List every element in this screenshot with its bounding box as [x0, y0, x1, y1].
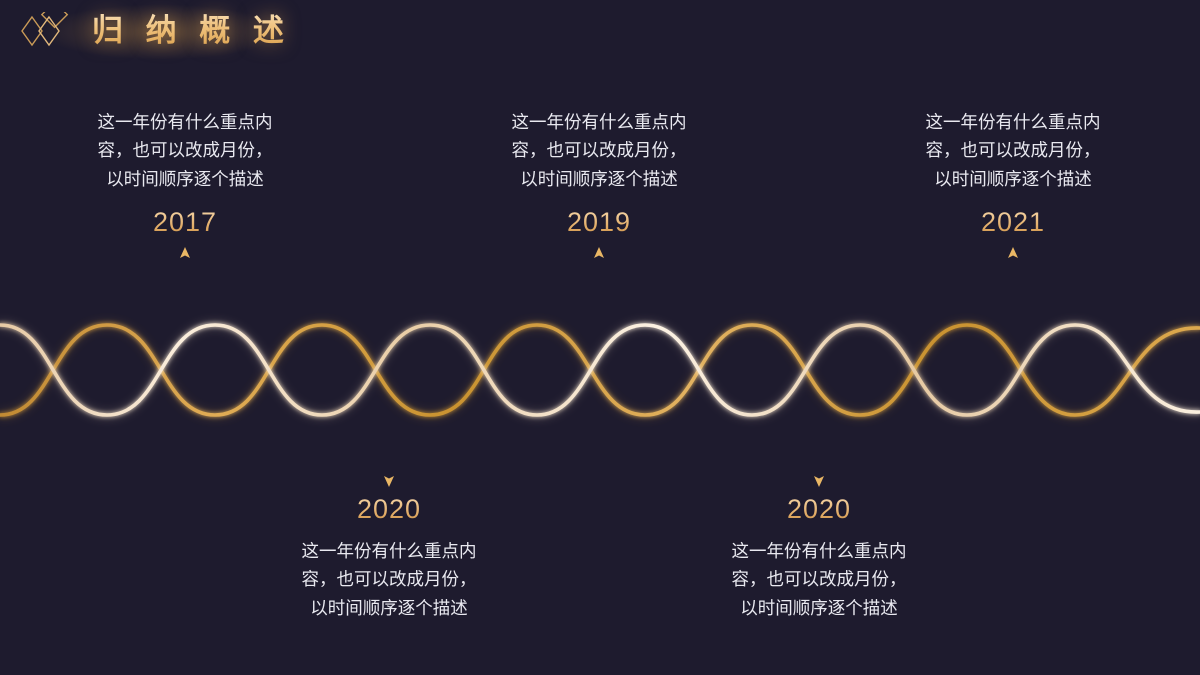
timeline-entry-2021[interactable]: 这一年份有什么重点内 容，也可以改成月份， 以时间顺序逐个描述 2021 — [898, 108, 1128, 316]
timeline-entry-2017[interactable]: 这一年份有什么重点内 容，也可以改成月份， 以时间顺序逐个描述 2017 — [70, 108, 300, 316]
arrow-down-icon — [274, 418, 504, 488]
arrow-up-icon — [70, 246, 300, 316]
slide-header: 归 纳 概 述 — [18, 12, 291, 51]
entry-year: 2021 — [898, 207, 1128, 238]
cream-wave-path — [0, 325, 1200, 415]
arrow-up-icon — [898, 246, 1128, 316]
timeline-entry-2020-a[interactable]: 2020 这一年份有什么重点内 容，也可以改成月份， 以时间顺序逐个描述 — [274, 418, 504, 622]
entry-year: 2019 — [484, 207, 714, 238]
entry-description: 这一年份有什么重点内 容，也可以改成月份， 以时间顺序逐个描述 — [484, 108, 714, 193]
timeline-entry-2020-b[interactable]: 2020 这一年份有什么重点内 容，也可以改成月份， 以时间顺序逐个描述 — [704, 418, 934, 622]
timeline-wave-graphic — [0, 300, 1200, 440]
entry-year: 2020 — [274, 494, 504, 525]
entry-year: 2020 — [704, 494, 934, 525]
arrow-up-icon — [484, 246, 714, 316]
entry-description: 这一年份有什么重点内 容，也可以改成月份， 以时间顺序逐个描述 — [274, 537, 504, 622]
entry-description: 这一年份有什么重点内 容，也可以改成月份， 以时间顺序逐个描述 — [898, 108, 1128, 193]
double-diamond-icon — [18, 12, 70, 50]
slide-canvas: 归 纳 概 述 — [0, 0, 1200, 675]
arrow-down-icon — [704, 418, 934, 488]
entry-description: 这一年份有什么重点内 容，也可以改成月份， 以时间顺序逐个描述 — [70, 108, 300, 193]
entry-description: 这一年份有什么重点内 容，也可以改成月份， 以时间顺序逐个描述 — [704, 537, 934, 622]
timeline-entry-2019[interactable]: 这一年份有什么重点内 容，也可以改成月份， 以时间顺序逐个描述 2019 — [484, 108, 714, 316]
entry-year: 2017 — [70, 207, 300, 238]
page-title: 归 纳 概 述 — [92, 12, 291, 51]
